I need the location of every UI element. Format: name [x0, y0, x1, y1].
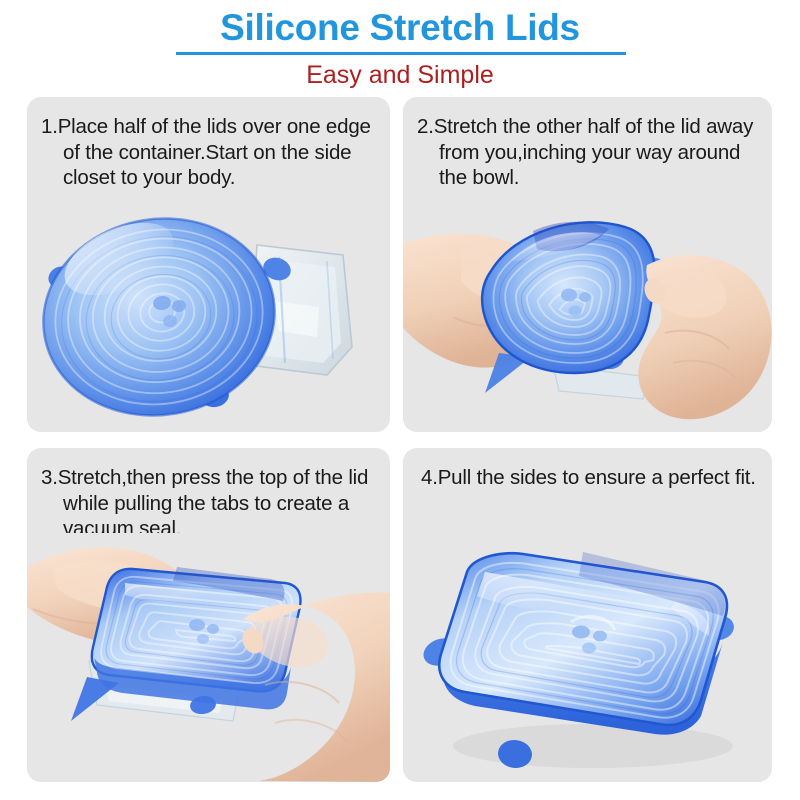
- step-3-text: 3.Stretch,then press the top of the lid …: [41, 465, 380, 542]
- square-lid-sealed-illustration: [403, 538, 772, 782]
- page-subtitle: Easy and Simple: [0, 59, 800, 91]
- step-panel-4: 4.Pull the sides to ensure a perfect fit…: [403, 448, 772, 782]
- step-4-text: 4.Pull the sides to ensure a perfect fit…: [421, 465, 762, 491]
- infographic-page: Silicone Stretch Lids Easy and Simple 1.…: [0, 0, 800, 800]
- step-2-text: 2.Stretch the other half of the lid away…: [417, 114, 762, 191]
- step-2-photo: [403, 187, 772, 432]
- hands-pressing-lid-illustration: [27, 533, 390, 782]
- title-underline-rule: [176, 52, 626, 55]
- step-panel-3: 3.Stretch,then press the top of the lid …: [27, 448, 390, 782]
- step-3-photo: [27, 533, 390, 782]
- hands-stretching-lid-illustration: [403, 187, 772, 432]
- round-lid-on-container-illustration: [27, 197, 390, 432]
- step-1-photo: [27, 197, 390, 432]
- step-1-text: 1.Place half of the lids over one edge o…: [41, 114, 380, 191]
- step-panel-1: 1.Place half of the lids over one edge o…: [27, 97, 390, 432]
- page-title: Silicone Stretch Lids: [0, 6, 800, 50]
- step-4-photo: [403, 538, 772, 782]
- step-panel-2: 2.Stretch the other half of the lid away…: [403, 97, 772, 432]
- header: Silicone Stretch Lids Easy and Simple: [0, 0, 800, 95]
